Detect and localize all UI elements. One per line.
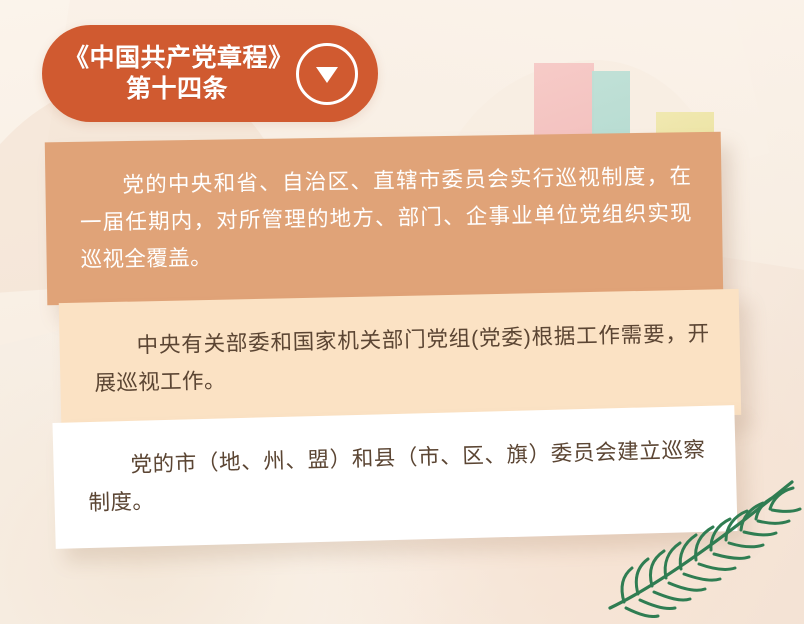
card-text: 党的中央和省、自治区、直辖市委员会实行巡视制度，在一届任期内，对所管理的地方、部… [79, 158, 693, 279]
charter-title: 《中国共产党章程》 [64, 43, 290, 74]
card-text: 中央有关部委和国家机关部门党组(党委)根据工作需要，开展巡视工作。 [93, 316, 710, 403]
mint-block [592, 71, 630, 143]
triangle-down-icon [316, 67, 338, 83]
article-number: 第十四条 [64, 74, 290, 105]
title-badge-text: 《中国共产党章程》 第十四条 [64, 43, 290, 105]
card-text: 党的市（地、州、盟）和县（市、区、旗）委员会建立巡察制度。 [87, 432, 707, 522]
poster-canvas: 《中国共产党章程》 第十四条 党的中央和省、自治区、直辖市委员会实行巡视制度，在… [0, 0, 804, 624]
content-card-central-provincial: 党的中央和省、自治区、直辖市委员会实行巡视制度，在一届任期内，对所管理的地方、部… [45, 132, 723, 306]
dropdown-circle-button[interactable] [296, 43, 358, 105]
pink-block [534, 63, 594, 143]
title-badge[interactable]: 《中国共产党章程》 第十四条 [42, 25, 378, 122]
content-card-municipal-county: 党的市（地、州、盟）和县（市、区、旗）委员会建立巡察制度。 [52, 405, 737, 549]
